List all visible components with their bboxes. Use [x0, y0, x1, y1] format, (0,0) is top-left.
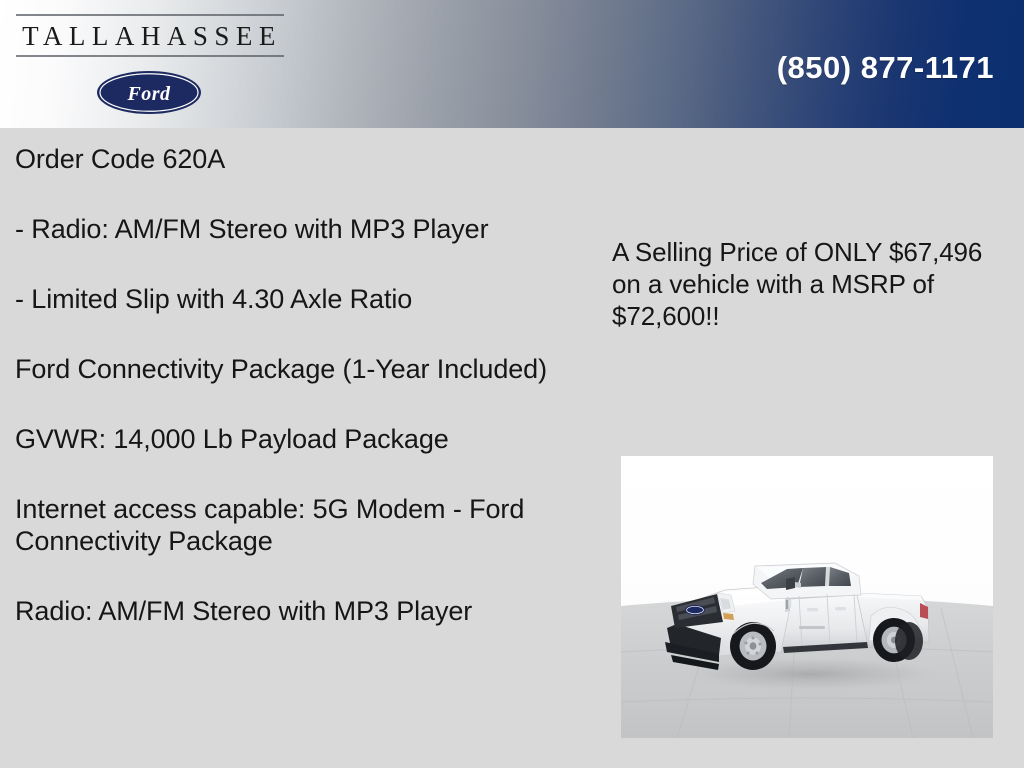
feature-item: Ford Connectivity Package (1-Year Includ…: [15, 353, 595, 385]
dealer-brand-block: TALLAHASSEE: [16, 14, 284, 57]
feature-item: GVWR: 14,000 Lb Payload Package: [15, 423, 595, 455]
brand-rule-bottom: [16, 55, 284, 57]
feature-item: - Radio: AM/FM Stereo with MP3 Player: [15, 213, 595, 245]
pricing-headline: A Selling Price of ONLY $67,496 on a veh…: [612, 236, 1002, 332]
feature-list: Order Code 620A - Radio: AM/FM Stereo wi…: [15, 143, 595, 627]
feature-item: - Limited Slip with 4.30 Axle Ratio: [15, 283, 595, 315]
feature-item: Radio: AM/FM Stereo with MP3 Player: [15, 595, 595, 627]
ford-oval-icon: Ford: [96, 70, 202, 115]
content-area: Order Code 620A - Radio: AM/FM Stereo wi…: [0, 128, 1024, 768]
svg-text:Ford: Ford: [126, 83, 171, 105]
dealer-name: TALLAHASSEE: [16, 19, 284, 53]
brand-rule-top: [16, 14, 284, 16]
feature-item: Internet access capable: 5G Modem - Ford…: [15, 493, 595, 557]
page-header: TALLAHASSEE Ford (850) 877-1171: [0, 0, 1024, 128]
feature-item: Order Code 620A: [15, 143, 595, 175]
vehicle-photo[interactable]: [621, 456, 993, 738]
listing-slide: TALLAHASSEE Ford (850) 877-1171 Order Co…: [0, 0, 1024, 768]
dealer-phone[interactable]: (850) 877-1171: [777, 50, 994, 86]
